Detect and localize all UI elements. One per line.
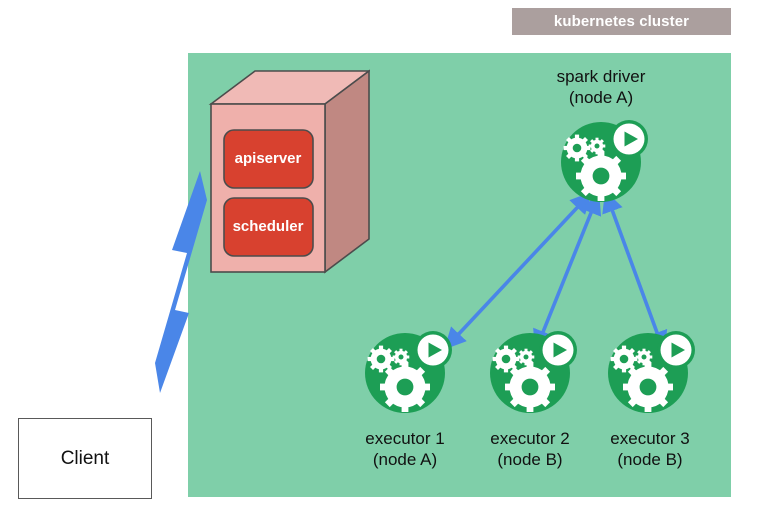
executor-3-label: executor 3 (node B) xyxy=(570,428,730,470)
control-plane-cube: apiserver scheduler xyxy=(198,68,370,280)
executor-3-node: (node B) xyxy=(570,449,730,470)
diagram-canvas: kubernetes cluster spark-submit xyxy=(0,0,761,516)
spark-driver-label: spark driver (node A) xyxy=(521,66,681,108)
client-box: Client xyxy=(18,418,152,499)
spark-submit-label: spark-submit xyxy=(106,236,149,328)
executor-3-name: executor 3 xyxy=(570,428,730,449)
spark-driver-name: spark driver xyxy=(521,66,681,87)
kubernetes-cluster-title: kubernetes cluster xyxy=(512,8,731,35)
spark-driver-node: (node A) xyxy=(521,87,681,108)
